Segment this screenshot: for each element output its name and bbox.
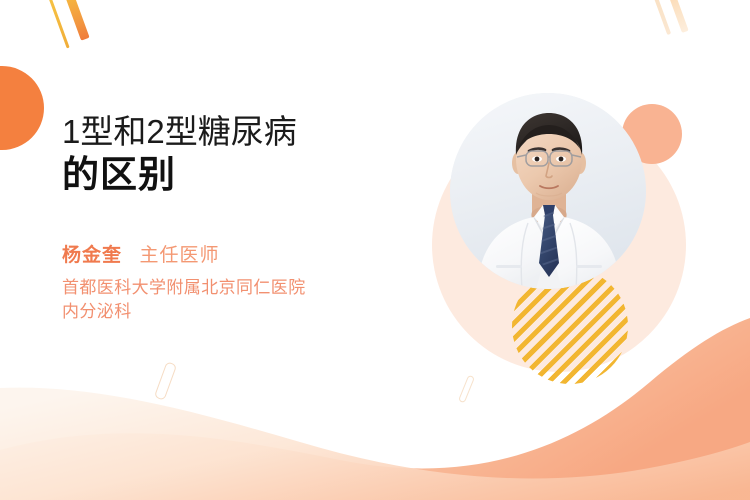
doctor-portrait-avatar xyxy=(450,93,646,289)
affiliation: 首都医科大学附属北京同仁医院 内分泌科 xyxy=(62,276,422,324)
poster-text-block: 1型和2型糖尿病 的区别 杨金奎 主任医师 首都医科大学附属北京同仁医院 内分泌… xyxy=(62,112,422,324)
affiliation-line-2: 内分泌科 xyxy=(62,300,422,324)
doctor-job-title: 主任医师 xyxy=(139,245,219,266)
affiliation-line-1: 首都医科大学附属北京同仁医院 xyxy=(62,276,422,300)
yellow-diagonal-stripe-icon xyxy=(47,0,70,49)
page-title-line-1: 1型和2型糖尿病 xyxy=(62,112,422,152)
doctor-name: 杨金奎 xyxy=(62,245,122,266)
pale-diagonal-stripe-a-icon xyxy=(651,0,671,35)
solid-orange-circle-icon xyxy=(0,66,44,150)
byline: 杨金奎 主任医师 xyxy=(62,240,422,267)
poster-canvas: 1型和2型糖尿病 的区别 杨金奎 主任医师 首都医科大学附属北京同仁医院 内分泌… xyxy=(0,0,750,500)
page-title-line-2: 的区别 xyxy=(62,152,422,198)
orange-diagonal-stripe-icon xyxy=(62,0,90,41)
wave-decoration-icon xyxy=(0,300,750,500)
